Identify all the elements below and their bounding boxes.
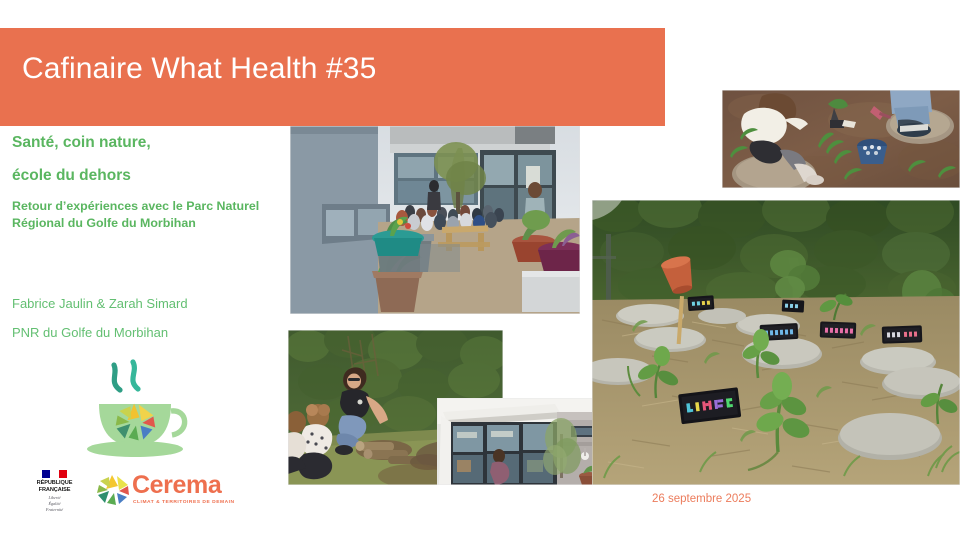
- rf-motto: Liberté Égalité Fraternité: [31, 495, 78, 513]
- lead-paragraph: Retour d’expériences avec le Parc Nature…: [12, 198, 284, 231]
- republique-francaise-logo: RÉPUBLIQUE FRANÇAISE Liberté Égalité Fra…: [31, 470, 78, 514]
- cerema-tagline: CLIMAT & TERRITOIRES DE DEMAIN: [133, 500, 235, 505]
- subtitle-line-1: Santé, coin nature,: [12, 134, 151, 152]
- cerema-star-icon: [96, 474, 130, 506]
- cerema-wordmark: Cerema: [132, 472, 221, 500]
- author-names: Fabrice Jaulin & Zarah Simard: [12, 296, 188, 311]
- rf-line-2: FRANÇAISE: [31, 487, 78, 494]
- photo-planting: [722, 90, 960, 188]
- slide-date: 26 septembre 2025: [652, 493, 751, 505]
- presentation-slide: Cafinaire What Health #35 Santé, coin na…: [0, 0, 960, 538]
- photo-garden: [592, 200, 960, 485]
- cafinaire-cup-logo: [78, 356, 202, 462]
- photo-courtyard: [290, 126, 580, 314]
- cerema-logo: Cerema CLIMAT & TERRITOIRES DE DEMAIN: [96, 472, 234, 514]
- rf-wordmark: RÉPUBLIQUE FRANÇAISE: [31, 480, 78, 493]
- page-title: Cafinaire What Health #35: [22, 52, 376, 86]
- french-flag-icon: [42, 470, 67, 478]
- subtitle-line-2: école du dehors: [12, 167, 131, 185]
- rf-line-1: RÉPUBLIQUE: [31, 480, 78, 487]
- rf-motto-fraternite: Fraternité: [31, 507, 78, 513]
- organisation-name: PNR du Golfe du Morbihan: [12, 325, 168, 340]
